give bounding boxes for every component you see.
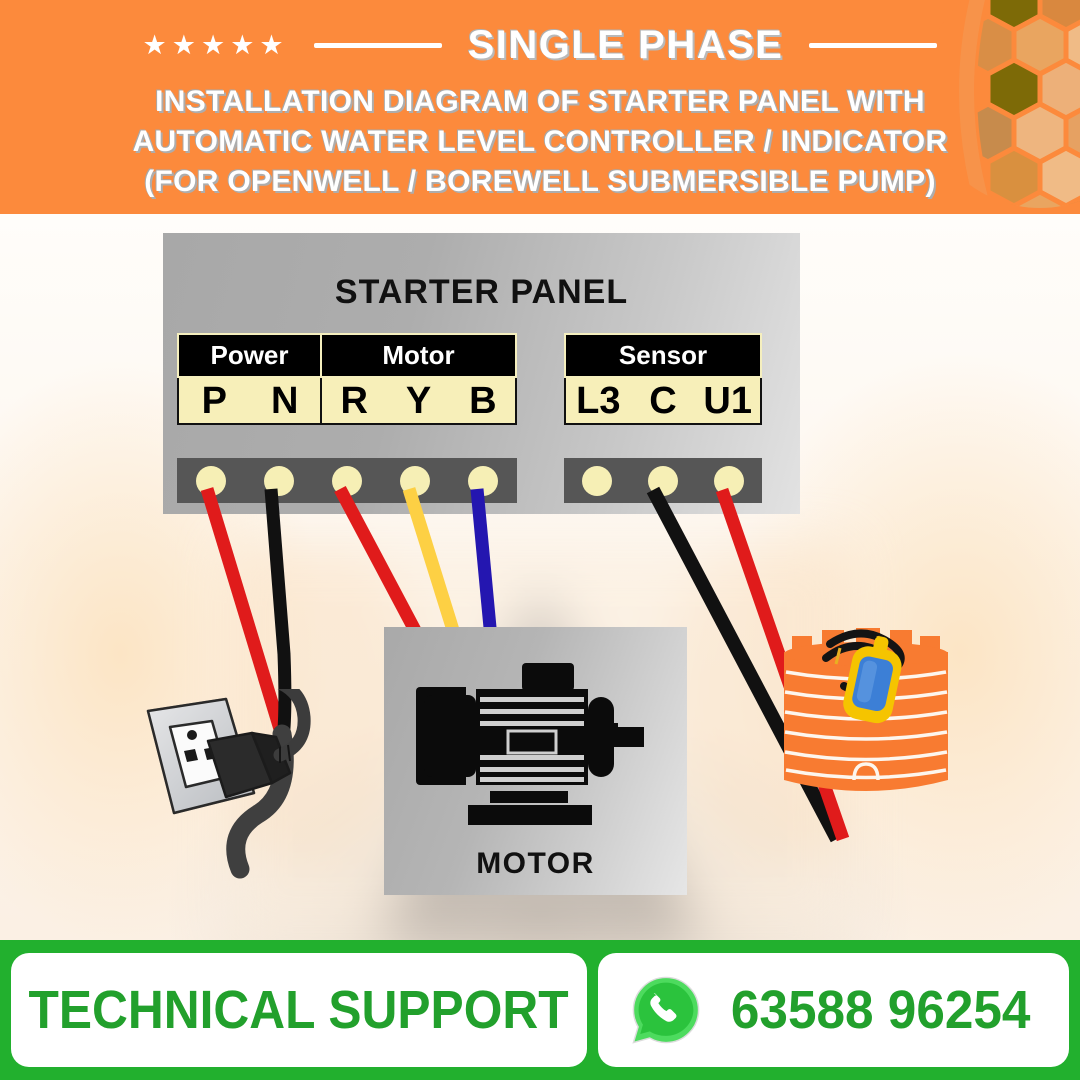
- whatsapp-phone-number: 63588 96254: [731, 979, 1031, 1041]
- subtitle-line-2: AUTOMATIC WATER LEVEL CONTROLLER / INDIC…: [0, 122, 1080, 162]
- star-rating: ★ ★ ★ ★ ★: [143, 32, 284, 59]
- divider-line-right: [809, 43, 937, 48]
- star-icon: ★: [259, 32, 283, 59]
- star-icon: ★: [172, 32, 196, 59]
- whatsapp-icon: [629, 973, 703, 1047]
- technical-support-card[interactable]: TECHNICAL SUPPORT: [11, 953, 587, 1067]
- motor-card: MOTOR: [384, 627, 687, 895]
- subtitle-line-3: (FOR OPENWELL / BOREWELL SUBMERSIBLE PUM…: [0, 162, 1080, 202]
- divider-line-left: [314, 43, 442, 48]
- footer-bar: TECHNICAL SUPPORT 63588 96254: [0, 940, 1080, 1080]
- electric-motor-icon: [402, 645, 669, 841]
- motor-label: MOTOR: [384, 847, 687, 881]
- star-icon: ★: [201, 32, 225, 59]
- water-tank-icon: [770, 624, 960, 824]
- single-phase-badge: SINGLE PHASE: [468, 23, 784, 68]
- subtitle-line-1: INSTALLATION DIAGRAM OF STARTER PANEL WI…: [0, 82, 1080, 122]
- star-icon: ★: [143, 32, 167, 59]
- diagram-stage: STARTER PANEL Power P N Motor R Y B Sens…: [0, 214, 1080, 940]
- star-icon: ★: [230, 32, 254, 59]
- header-subtitle: INSTALLATION DIAGRAM OF STARTER PANEL WI…: [0, 82, 1080, 202]
- technical-support-label: TECHNICAL SUPPORT: [29, 979, 569, 1041]
- wall-socket-plug-icon: [130, 689, 330, 839]
- header-badge-row: ★ ★ ★ ★ ★ SINGLE PHASE: [0, 18, 1080, 72]
- header-banner: ★ ★ ★ ★ ★ SINGLE PHASE INSTALLATION DIAG…: [0, 0, 1080, 214]
- whatsapp-contact-card[interactable]: 63588 96254: [598, 953, 1069, 1067]
